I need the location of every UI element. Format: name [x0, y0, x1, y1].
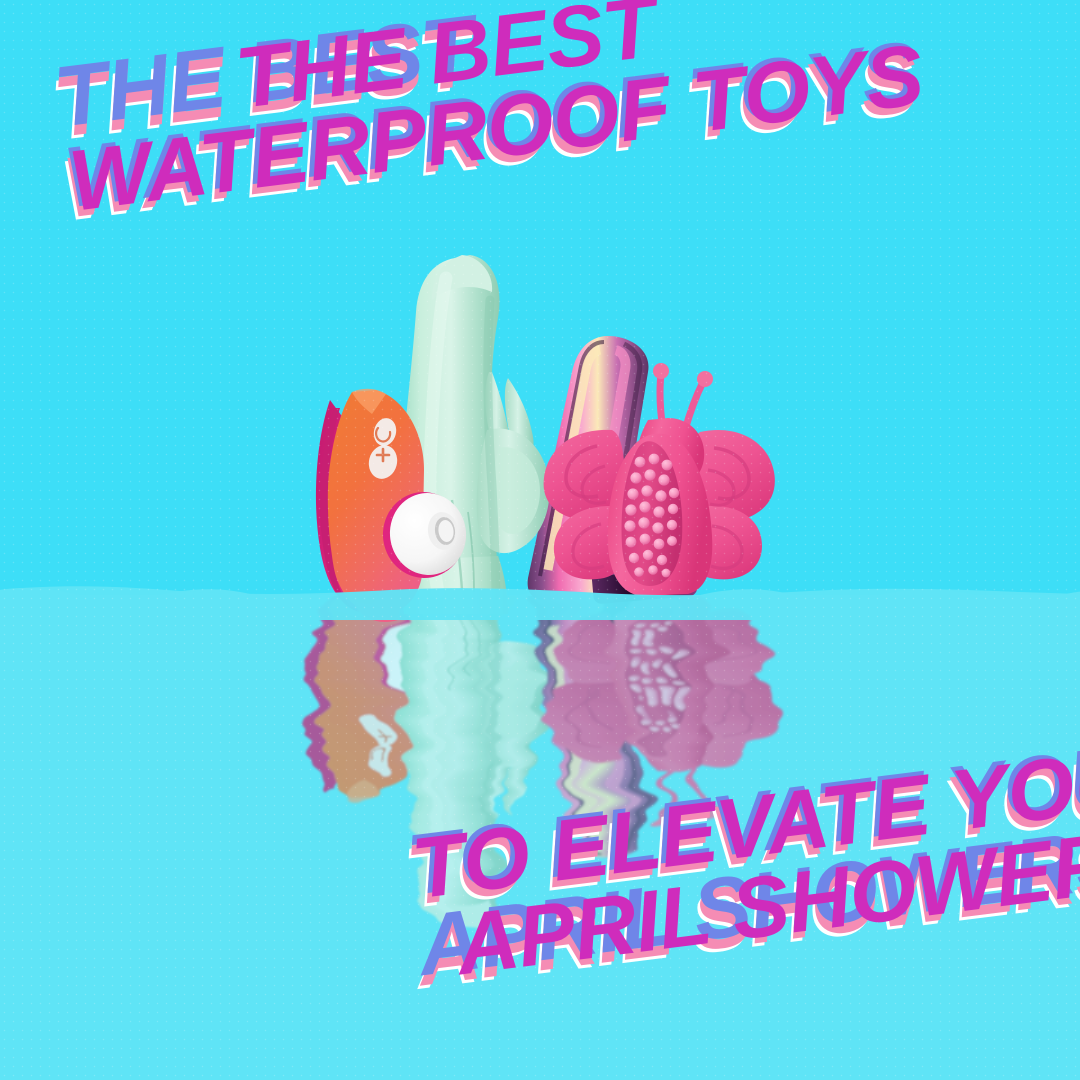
waterline-foam [0, 586, 1080, 620]
poster-canvas: THE BEST THE BEST THE BEST THE BEST WATE… [0, 0, 1080, 1080]
product-group [316, 255, 775, 622]
